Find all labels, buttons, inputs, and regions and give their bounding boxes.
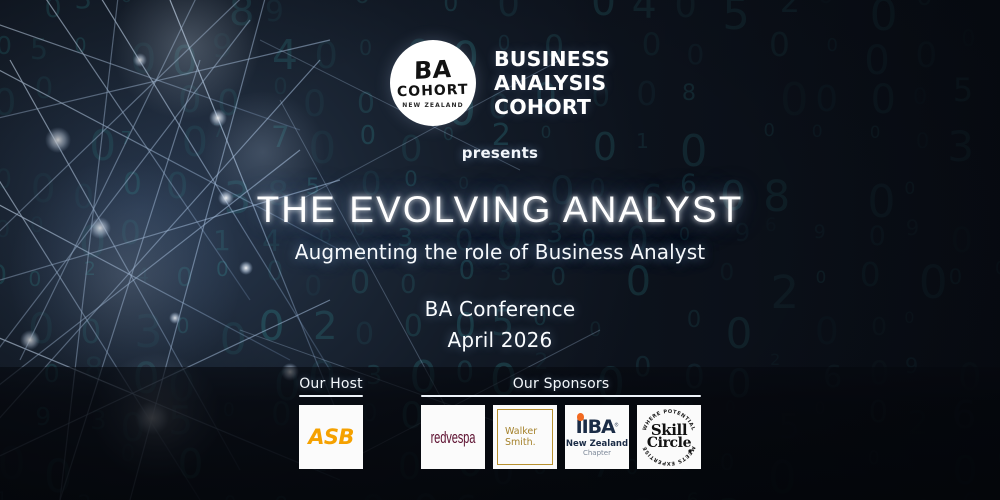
presents-label: presents: [0, 144, 1000, 162]
walker-smith-wordmark: Walker Smith.: [505, 426, 537, 448]
sponsor-logo-skill-circle[interactable]: WHERE POTENTIAL MEETS EXPERTISE Skill Ci…: [637, 405, 701, 469]
event-name: BA Conference: [0, 294, 1000, 325]
asb-wordmark: ASB: [308, 425, 354, 449]
iiba-registered-mark: ®: [615, 422, 619, 428]
walker-smith-frame: Walker Smith.: [497, 409, 553, 465]
iiba-lockup: IIBA® New Zealand Chapter: [566, 418, 628, 457]
sponsor-logo-walker-smith[interactable]: Walker Smith.: [493, 405, 557, 469]
brand-title-line-2: ANALYSIS: [494, 71, 610, 95]
iiba-main: IIBA®: [576, 418, 619, 437]
sponsor-logos: redvespa Walker Smith. IIBA®: [421, 405, 701, 469]
skill-circle-wordmark: Skill Circle: [639, 407, 699, 467]
logo-newzealand-text: NEW ZEALAND: [402, 103, 464, 109]
logo-ba-text: BA: [414, 56, 452, 82]
poster-canvas: 0030089600040520000500094000000000000000…: [0, 0, 1000, 500]
iiba-chapter: Chapter: [583, 450, 611, 457]
logo-cohort-text: COHORT: [397, 82, 469, 98]
page-title: THE EVOLVING ANALYST: [0, 189, 1000, 231]
sponsors-underline: [421, 395, 701, 397]
redvespa-wordmark: redvespa: [431, 428, 476, 447]
footer-partners: Our Host ASB Our Sponsors redvespa Walke…: [0, 367, 1000, 500]
iiba-region: New Zealand: [566, 440, 628, 449]
page-subtitle: Augmenting the role of Business Analyst: [0, 240, 1000, 264]
host-group: Our Host ASB: [299, 376, 363, 469]
host-underline: [299, 395, 363, 397]
skill-circle-lockup: WHERE POTENTIAL MEETS EXPERTISE Skill Ci…: [639, 407, 699, 467]
brand-title: BUSINESS ANALYSIS COHORT: [494, 47, 610, 120]
walker-smith-line-1: Walker: [505, 426, 537, 437]
host-logos: ASB: [299, 405, 363, 469]
sponsor-logo-iiba[interactable]: IIBA® New Zealand Chapter: [565, 405, 629, 469]
iiba-dot-icon: [577, 413, 584, 421]
sponsor-logo-redvespa[interactable]: redvespa: [421, 405, 485, 469]
sponsors-label: Our Sponsors: [513, 376, 610, 392]
brand-title-line-3: COHORT: [494, 95, 610, 119]
sponsors-group: Our Sponsors redvespa Walker Smith.: [421, 376, 701, 469]
host-logo-asb[interactable]: ASB: [299, 405, 363, 469]
walker-smith-line-2: Smith.: [505, 437, 537, 448]
skill-circle-line-2: Circle: [647, 437, 691, 450]
ba-cohort-logo: BA COHORT NEW ZEALAND: [390, 40, 476, 126]
event-date: April 2026: [0, 325, 1000, 356]
event-details: BA Conference April 2026: [0, 294, 1000, 356]
brand-title-line-1: BUSINESS: [494, 47, 610, 71]
brand-header: BA COHORT NEW ZEALAND BUSINESS ANALYSIS …: [0, 40, 1000, 126]
host-label: Our Host: [299, 376, 363, 392]
